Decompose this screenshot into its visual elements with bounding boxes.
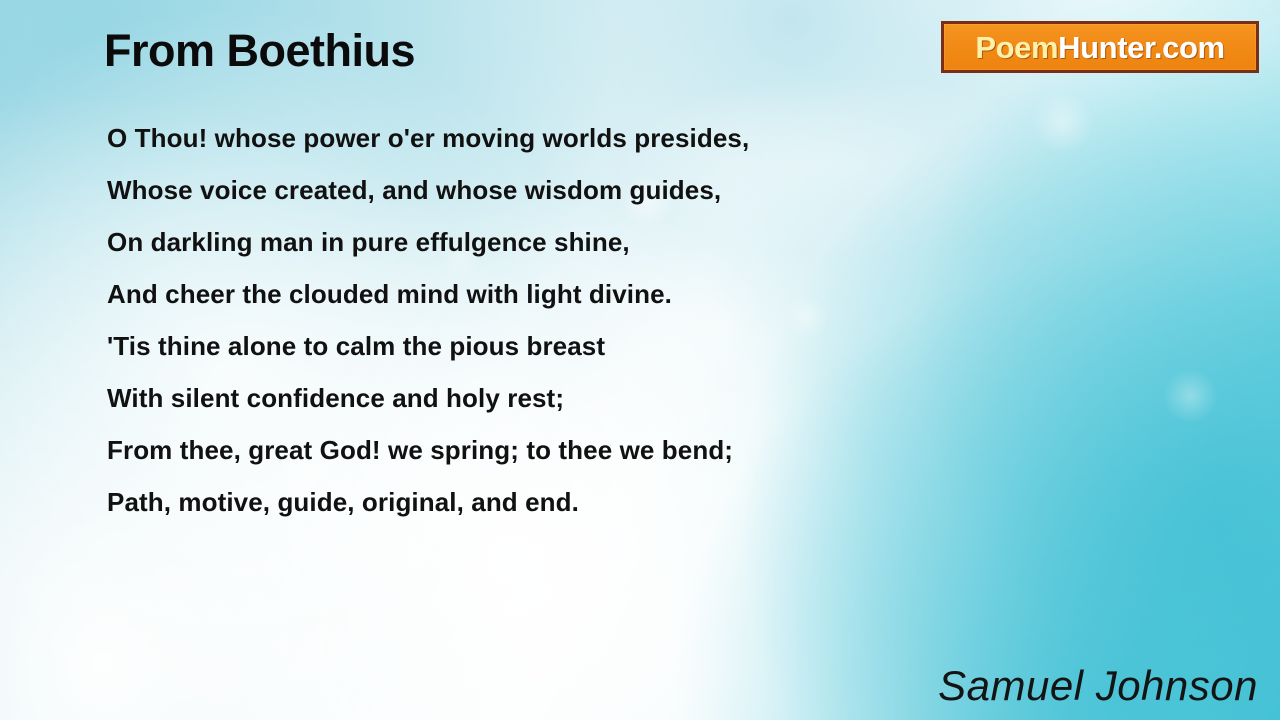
logo-text-hunter: Hunter.com: [1058, 30, 1225, 65]
poem-line: With silent confidence and holy rest;: [107, 372, 927, 424]
poem-line: 'Tis thine alone to calm the pious breas…: [107, 320, 927, 372]
logo-text-poem: Poem: [975, 30, 1058, 65]
logo-text: PoemHunter.com: [975, 32, 1224, 63]
poem-line: And cheer the clouded mind with light di…: [107, 268, 927, 320]
poem-line: Path, motive, guide, original, and end.: [107, 476, 927, 528]
poem-line: On darkling man in pure effulgence shine…: [107, 216, 927, 268]
poem-line: O Thou! whose power o'er moving worlds p…: [107, 112, 927, 164]
poemhunter-logo[interactable]: PoemHunter.com: [941, 21, 1259, 73]
poem-body: O Thou! whose power o'er moving worlds p…: [107, 112, 927, 528]
poem-line: From thee, great God! we spring; to thee…: [107, 424, 927, 476]
poem-image-canvas: From Boethius O Thou! whose power o'er m…: [0, 0, 1280, 720]
poem-line: Whose voice created, and whose wisdom gu…: [107, 164, 927, 216]
page-title: From Boethius: [104, 25, 415, 77]
poem-author: Samuel Johnson: [938, 662, 1258, 710]
